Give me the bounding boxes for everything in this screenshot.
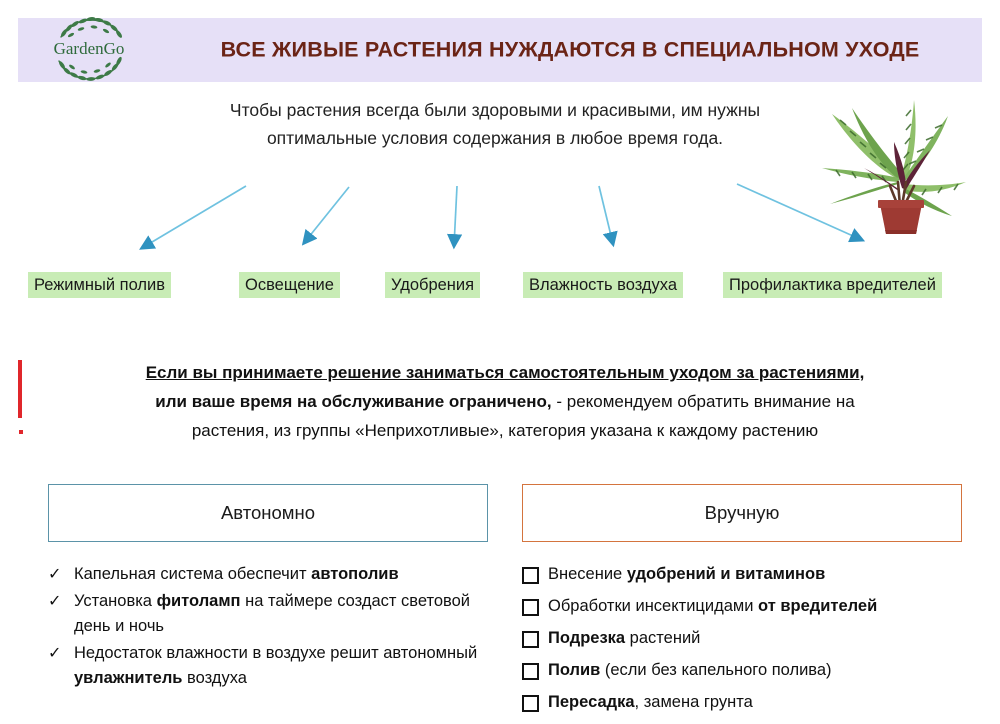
li-post: , замена грунта: [635, 693, 753, 711]
list-item[interactable]: Подрезка растений: [522, 626, 977, 656]
subtitle: Чтобы растения всегда были здоровыми и к…: [150, 96, 840, 152]
check-icon: ✓: [48, 562, 74, 587]
arrow-3: [454, 186, 457, 246]
list-item[interactable]: ✓ Недостаток влажности в воздухе решит а…: [48, 641, 498, 691]
li-pre: Недостаток влажности в воздухе решит авт…: [74, 644, 477, 662]
check-icon: ✓: [48, 589, 74, 614]
list-item[interactable]: ✓ Установка фитоламп на таймере создаст …: [48, 589, 498, 639]
callout-line-2-bold: или ваше время на обслуживание ограничен…: [155, 392, 551, 411]
subtitle-line-2: оптимальные условия содержания в любое в…: [150, 124, 840, 152]
manual-list: Внесение удобрений и витаминов Обработки…: [522, 562, 977, 722]
arrow-1: [142, 186, 246, 248]
li-pre: Обработки инсектицидами: [548, 597, 758, 615]
list-item-text: Полив (если без капельного полива): [548, 658, 977, 683]
list-item[interactable]: Полив (если без капельного полива): [522, 658, 977, 688]
li-bold: Полив: [548, 661, 600, 679]
list-item[interactable]: Обработки инсектицидами от вредителей: [522, 594, 977, 624]
list-item-text: Внесение удобрений и витаминов: [548, 562, 977, 587]
tag-pest-control[interactable]: Профилактика вредителей: [723, 272, 942, 298]
callout-line-2-rest: - рекомендуем обратить внимание на: [552, 392, 855, 411]
checkbox-empty-icon[interactable]: [522, 626, 548, 656]
laurel-wreath-icon: GardenGo: [31, 15, 147, 85]
header-band: GardenGo ВСЕ ЖИВЫЕ РАСТЕНИЯ НУЖДАЮТСЯ В …: [18, 18, 982, 82]
tag-humidity[interactable]: Влажность воздуха: [523, 272, 683, 298]
li-bold: автополив: [311, 565, 398, 583]
arrow-4: [599, 186, 613, 244]
checkbox-empty-icon[interactable]: [522, 562, 548, 592]
tag-lighting[interactable]: Освещение: [239, 272, 340, 298]
li-bold: от вредителей: [758, 597, 877, 615]
li-pre: Капельная система обеспечит: [74, 565, 311, 583]
list-item[interactable]: ✓ Капельная система обеспечит автополив: [48, 562, 498, 587]
care-tag-row: Режимный полив Освещение Удобрения Влажн…: [28, 272, 978, 298]
callout-accent-dot: [19, 430, 23, 434]
li-bold: Подрезка: [548, 629, 625, 647]
li-post: (если без капельного полива): [600, 661, 831, 679]
autonomous-list: ✓ Капельная система обеспечит автополив …: [48, 562, 498, 693]
callout-line-3: растения, из группы «Неприхотливые», кат…: [192, 421, 818, 440]
checkbox-empty-icon[interactable]: [522, 594, 548, 624]
logo: GardenGo: [30, 14, 148, 86]
potted-plant-image: [818, 84, 983, 236]
column-header-autonomous[interactable]: Автономно: [48, 484, 488, 542]
callout-accent-bar: [18, 360, 22, 418]
li-bold: фитоламп: [157, 592, 241, 610]
column-header-manual[interactable]: Вручную: [522, 484, 962, 542]
li-pre: Внесение: [548, 565, 627, 583]
arrow-2: [304, 187, 349, 243]
page-title: ВСЕ ЖИВЫЕ РАСТЕНИЯ НУЖДАЮТСЯ В СПЕЦИАЛЬН…: [168, 38, 972, 63]
column-header-manual-label: Вручную: [705, 502, 780, 524]
list-item-text: Установка фитоламп на таймере создаст св…: [74, 589, 498, 639]
logo-text: GardenGo: [54, 39, 125, 58]
li-pre: Установка: [74, 592, 157, 610]
li-bold: Пересадка: [548, 693, 635, 711]
check-icon: ✓: [48, 641, 74, 666]
tag-watering[interactable]: Режимный полив: [28, 272, 171, 298]
li-post: воздуха: [182, 669, 246, 687]
subtitle-line-1: Чтобы растения всегда были здоровыми и к…: [150, 96, 840, 124]
li-post: растений: [625, 629, 700, 647]
li-bold: удобрений и витаминов: [627, 565, 825, 583]
list-item-text: Подрезка растений: [548, 626, 977, 651]
list-item-text: Капельная система обеспечит автополив: [74, 562, 498, 587]
callout-block: Если вы принимаете решение заниматься са…: [18, 358, 982, 445]
tag-fertilizer[interactable]: Удобрения: [385, 272, 480, 298]
list-item-text: Пересадка, замена грунта: [548, 690, 977, 715]
list-item[interactable]: Внесение удобрений и витаминов: [522, 562, 977, 592]
callout-line-1: Если вы принимаете решение заниматься са…: [146, 363, 865, 382]
checkbox-empty-icon[interactable]: [522, 658, 548, 688]
checkbox-empty-icon[interactable]: [522, 690, 548, 720]
li-bold: увлажнитель: [74, 669, 182, 687]
callout-text: Если вы принимаете решение заниматься са…: [40, 358, 970, 445]
list-item-text: Недостаток влажности в воздухе решит авт…: [74, 641, 498, 691]
list-item-text: Обработки инсектицидами от вредителей: [548, 594, 977, 619]
column-header-autonomous-label: Автономно: [221, 502, 315, 524]
list-item[interactable]: Пересадка, замена грунта: [522, 690, 977, 720]
